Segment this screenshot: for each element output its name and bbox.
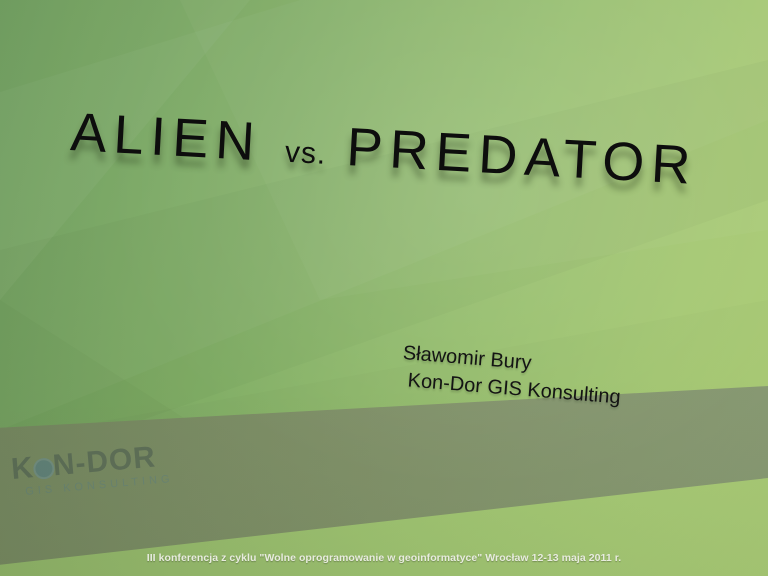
logo-text-before-globe: K xyxy=(10,451,35,486)
presentation-slide: ALIENvs.PREDATOR Sławomir Bury Kon-Dor G… xyxy=(0,0,768,576)
slide-footer: III konferencja z cyklu "Wolne oprogramo… xyxy=(0,552,768,564)
title-separator-vs: vs. xyxy=(284,136,327,172)
globe-icon xyxy=(32,457,55,480)
title-word-alien: ALIEN xyxy=(69,101,263,173)
title-word-predator: PREDATOR xyxy=(345,116,699,197)
slide-title: ALIENvs.PREDATOR xyxy=(0,97,768,200)
